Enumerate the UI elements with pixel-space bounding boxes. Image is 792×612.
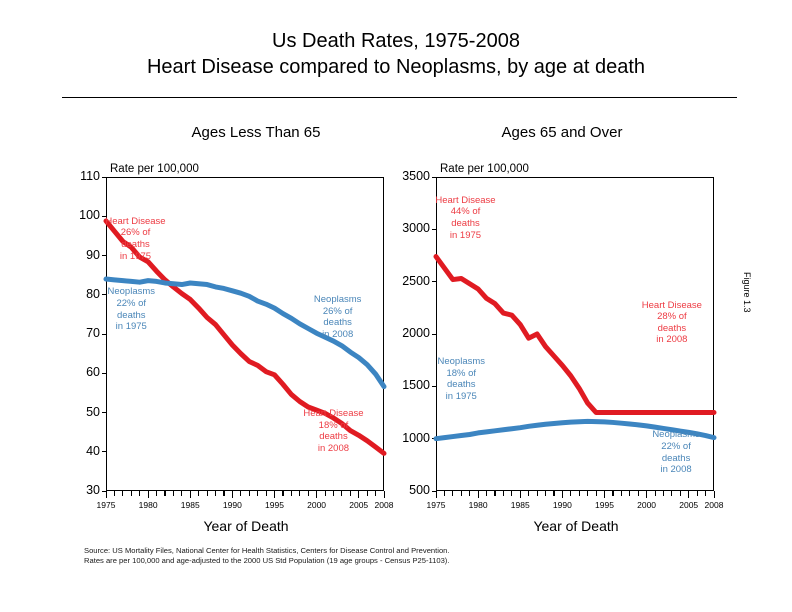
figure-number: Figure 1.3 [742,272,752,313]
annotation-right-1: Neoplasms 18% of deaths in 1975 [415,356,507,402]
annotation-right-3: Neoplasms 22% of deaths in 2008 [630,429,722,475]
x-axis-label-left: Year of Death [146,518,346,534]
annotation-right-0: Heart Disease 44% of deaths in 1975 [419,195,511,241]
source-line-1: Source: US Mortality Files, National Cen… [84,546,724,556]
x-axis-label-right: Year of Death [476,518,676,534]
source-note: Source: US Mortality Files, National Cen… [84,546,724,567]
figure-page: Us Death Rates, 1975-2008 Heart Disease … [0,0,792,612]
source-line-2: Rates are per 100,000 and age-adjusted t… [84,556,724,566]
annotation-right-2: Heart Disease 28% of deaths in 2008 [626,300,718,346]
